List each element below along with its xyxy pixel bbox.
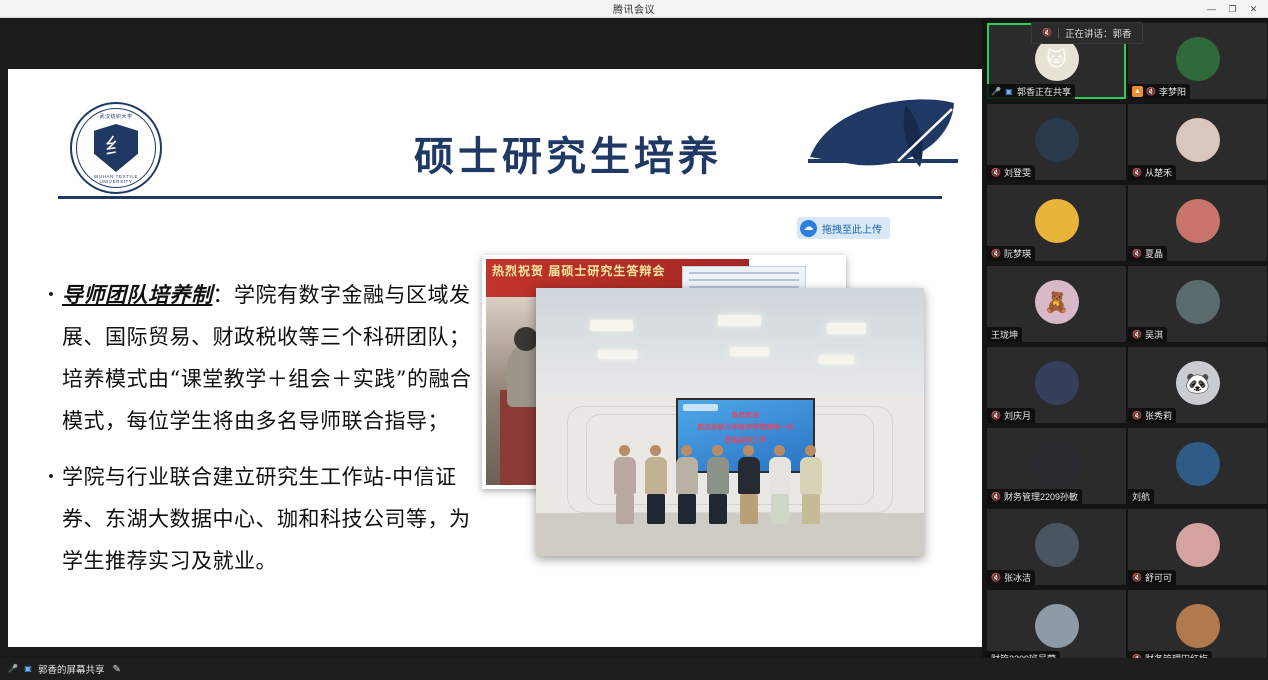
participant-nametag: 🔇 刘登雯 (987, 165, 1035, 180)
avatar-glyph: 🐼 (1185, 371, 1210, 396)
participant-tile[interactable]: 🐼 🔇 张秀莉 (1128, 347, 1267, 423)
mic-muted-icon: 🔇 (1042, 28, 1052, 39)
participant-nametag: 🔇 夏晶 (1128, 246, 1167, 261)
participant-nametag: 王珑坤 (987, 327, 1022, 342)
participant-nametag: 刘航 (1128, 489, 1154, 504)
mic-muted-icon: 🔇 (991, 572, 1001, 583)
close-button[interactable]: ✕ (1243, 0, 1264, 18)
participant-name: 从楚禾 (1145, 166, 1172, 179)
presentation-slide: 武汉纺织大学 纟 WUHAN TEXTILE UNIVERSITY 硕士研究生培… (8, 69, 982, 647)
annotate-pen-icon[interactable]: ✎ (113, 664, 121, 675)
bullet-text: 导师团队培养制：学院有数字金融与区域发展、国际贸易、财政税收等三个科研团队；培养… (62, 274, 490, 442)
participant-name: 财务管理2209孙敏 (1004, 490, 1078, 503)
participant-tile[interactable]: 🔇 舒可可 (1128, 509, 1267, 585)
participant-name: 王珑坤 (991, 328, 1018, 341)
host-icon: ▲ (1132, 86, 1143, 97)
mic-muted-icon: 🔇 (991, 167, 1001, 178)
leaf-decoration-icon (802, 99, 962, 174)
shared-screen-area: 武汉纺织大学 纟 WUHAN TEXTILE UNIVERSITY 硕士研究生培… (0, 18, 982, 658)
upload-chip-label: 拖拽至此上传 (822, 221, 882, 236)
avatar (1176, 199, 1220, 243)
bullet-marker: • (40, 274, 62, 442)
window-title: 腾讯会议 (613, 1, 655, 16)
participant-nametag: ▲ 🔇 李梦阳 (1128, 84, 1190, 99)
participant-tile[interactable]: 🔇 张冰洁 (987, 509, 1126, 585)
participant-nametag: 🎤 ▣ 郭香正在共享 (987, 84, 1075, 99)
photo-back-banner-text: 热烈祝贺 届硕士研究生答辩会 (492, 262, 665, 279)
participant-name: 刘航 (1132, 490, 1150, 503)
avatar (1035, 118, 1079, 162)
mic-muted-icon: 🔇 (1132, 410, 1142, 421)
avatar (1035, 523, 1079, 567)
title-bar: 腾讯会议 — ❐ ✕ (0, 0, 1268, 18)
slide-body: • 导师团队培养制：学院有数字金融与区域发展、国际贸易、财政税收等三个科研团队；… (40, 274, 490, 596)
avatar: 🐱 (1035, 37, 1079, 81)
participant-tile[interactable]: 🔇 吴淇 (1128, 266, 1267, 342)
participant-tile[interactable]: 🧸 王珑坤 (987, 266, 1126, 342)
participant-name: 李梦阳 (1159, 85, 1186, 98)
avatar (1176, 280, 1220, 324)
participant-tile[interactable]: 🔇 从楚禾 (1128, 104, 1267, 180)
screen-share-bar[interactable]: 🎤 ▣ 郭香的屏幕共享 ✎ (0, 658, 1268, 680)
slide-title: 硕士研究生培养 (308, 124, 828, 182)
logo-rim-top-text: 武汉纺织大学 (77, 113, 155, 120)
participant-name: 吴淇 (1145, 328, 1163, 341)
participant-panel[interactable]: 🐱 🎤 ▣ 郭香正在共享 ▲ 🔇 李梦阳 🔇 刘登雯 (982, 18, 1268, 658)
avatar (1176, 604, 1220, 648)
avatar: 🐼 (1176, 361, 1220, 405)
mic-muted-icon: 🔇 (1132, 248, 1142, 259)
bullet-lead: 导师团队培养制 (62, 282, 213, 307)
mic-muted-icon: 🔇 (991, 491, 1001, 502)
participant-nametag: 🔇 刘庆月 (987, 408, 1035, 423)
avatar (1035, 361, 1079, 405)
participant-tile[interactable]: 财管2209班吴莹 (987, 590, 1126, 666)
participant-name: 阮梦瑛 (1004, 247, 1031, 260)
participant-tile[interactable]: 🔇 财务管理田红梅 (1128, 590, 1267, 666)
mic-muted-icon: 🔇 (1132, 167, 1142, 178)
participant-nametag: 🔇 张冰洁 (987, 570, 1035, 585)
logo-center-glyph: 纟 (105, 137, 127, 159)
tencent-meeting-window: 腾讯会议 — ❐ ✕ 武汉纺织大学 纟 WUHAN TEXTILE UNIVER… (0, 0, 1268, 680)
baidu-cloud-icon: ☁ (800, 220, 817, 237)
screen-share-icon[interactable]: ▣ (23, 664, 33, 675)
avatar: 🧸 (1035, 280, 1079, 324)
participant-nametag: 🔇 吴淇 (1128, 327, 1167, 342)
participant-name: 张冰洁 (1004, 571, 1031, 584)
mic-muted-icon: 🔇 (991, 248, 1001, 259)
participant-tile[interactable]: 🔇 财务管理2209孙敏 (987, 428, 1126, 504)
mic-on-icon[interactable]: 🎤 (8, 664, 18, 675)
slide-bullet: • 学院与行业联合建立研究生工作站-中信证券、东湖大数据中心、珈和科技公司等，为… (40, 456, 490, 582)
avatar (1035, 442, 1079, 486)
participant-nametag: 🔇 张秀莉 (1128, 408, 1176, 423)
share-bar-label: 郭香的屏幕共享 (38, 662, 105, 676)
avatar (1176, 523, 1220, 567)
participant-name: 张秀莉 (1145, 409, 1172, 422)
participant-tile[interactable]: 🔇 阮梦瑛 (987, 185, 1126, 261)
mic-muted-icon: 🔇 (991, 410, 1001, 421)
bullet-marker: • (40, 456, 62, 582)
avatar (1035, 199, 1079, 243)
participant-nametag: 🔇 阮梦瑛 (987, 246, 1035, 261)
speaking-text: 正在讲话：郭香 (1065, 26, 1132, 40)
speaking-indicator: 🔇 正在讲话：郭香 (1031, 22, 1143, 44)
title-divider (58, 196, 942, 199)
participant-nametag: 🔇 从楚禾 (1128, 165, 1176, 180)
slide-photo-front: 热烈欢迎 武汉纺织大学经济学院领导一行 莅临指导工作 (536, 288, 924, 556)
tooltip-divider (1058, 28, 1059, 39)
screen-share-icon: ▣ (1004, 86, 1014, 97)
logo-rim-bottom-text: WUHAN TEXTILE UNIVERSITY (77, 174, 155, 184)
university-logo: 武汉纺织大学 纟 WUHAN TEXTILE UNIVERSITY (70, 102, 162, 194)
participant-name: 郭香正在共享 (1017, 85, 1071, 98)
window-controls: — ❐ ✕ (1201, 0, 1264, 18)
participant-name: 刘登雯 (1004, 166, 1031, 179)
participant-tile[interactable]: 🔇 刘登雯 (987, 104, 1126, 180)
minimize-button[interactable]: — (1201, 0, 1222, 18)
avatar (1035, 604, 1079, 648)
mic-muted-icon: 🔇 (1132, 329, 1142, 340)
upload-chip[interactable]: ☁ 拖拽至此上传 (797, 217, 890, 239)
avatar (1176, 442, 1220, 486)
bullet-text: 学院与行业联合建立研究生工作站-中信证券、东湖大数据中心、珈和科技公司等，为学生… (62, 456, 490, 582)
participant-name: 刘庆月 (1004, 409, 1031, 422)
participant-tile[interactable]: 🔇 刘庆月 (987, 347, 1126, 423)
participant-tile[interactable]: ▲ 🔇 李梦阳 (1128, 23, 1267, 99)
mic-muted-icon: 🔇 (1132, 572, 1142, 583)
photo-front-screen-text: 热烈欢迎 武汉纺织大学经济学院领导一行 莅临指导工作 (678, 410, 814, 447)
mic-muted-icon: 🔇 (1146, 86, 1156, 97)
participant-name: 夏晶 (1145, 247, 1163, 260)
slide-bullet: • 导师团队培养制：学院有数字金融与区域发展、国际贸易、财政税收等三个科研团队；… (40, 274, 490, 442)
avatar-glyph: 🐱 (1046, 47, 1067, 72)
avatar (1176, 37, 1220, 81)
maximize-button[interactable]: ❐ (1222, 0, 1243, 18)
avatar (1176, 118, 1220, 162)
participant-tile[interactable]: 🔇 夏晶 (1128, 185, 1267, 261)
participant-name: 舒可可 (1145, 571, 1172, 584)
mic-on-icon: 🎤 (991, 86, 1001, 97)
avatar-glyph: 🧸 (1044, 290, 1069, 315)
participant-nametag: 🔇 财务管理2209孙敏 (987, 489, 1082, 504)
participant-nametag: 🔇 舒可可 (1128, 570, 1176, 585)
participant-tile[interactable]: 刘航 (1128, 428, 1267, 504)
